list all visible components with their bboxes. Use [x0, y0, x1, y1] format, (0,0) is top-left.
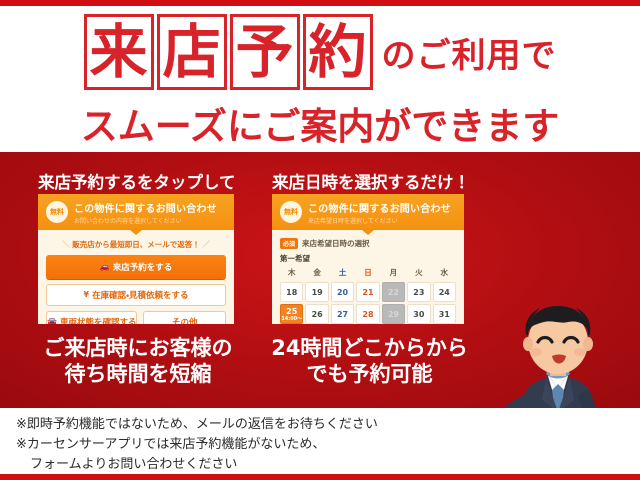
- mockup-header-text: この物件に関するお問い合わせ お問い合わせの内容を選択してください: [74, 200, 217, 225]
- promo-slash-left: ＼: [62, 240, 70, 249]
- other-inquiry-button[interactable]: その他: [143, 311, 226, 324]
- mockup-header-subtitle: お問い合わせの内容を選択してください: [74, 216, 217, 225]
- required-badge: 必須: [280, 238, 298, 249]
- red-content-area: 来店予約するをタップして 来店日時を選択するだけ！ 無料 この物件に関するお問い…: [0, 152, 640, 408]
- calendar-body: 必須 来店希望日時の選択 第一希望 木金土日月火水 18192021222324…: [272, 230, 464, 324]
- inquiry-form-mockup: 無料 この物件に関するお問い合わせ お問い合わせの内容を選択してください ＼ 販…: [38, 194, 234, 324]
- calendar-day-time: 14:00〜: [281, 315, 302, 322]
- calendar-header-text: この物件に関するお問い合わせ 来店希望日時を選択してください: [308, 200, 451, 225]
- calendar-day-number: 31: [439, 310, 450, 319]
- right-panel-title: 来店日時を選択するだけ！: [272, 169, 470, 193]
- calendar-day-28[interactable]: 28: [356, 304, 379, 324]
- calendar-day-number: 19: [312, 288, 323, 297]
- calendar-day-29: 29: [382, 304, 405, 324]
- calendar-weekday-土: 土: [331, 267, 354, 280]
- calendar-weekday-金: 金: [305, 267, 328, 280]
- reserve-visit-button[interactable]: 🚗 来店予約をする: [46, 255, 226, 279]
- headline-row-2: スムーズにご案内ができます: [0, 96, 640, 150]
- secondary-button-row: 🚘 車両状態を確認する その他: [46, 311, 226, 324]
- left-benefit-line-2: 待ち時間を短縮: [18, 362, 258, 388]
- calendar-weekday-木: 木: [280, 267, 303, 280]
- calendar-day-19[interactable]: 19: [305, 282, 328, 302]
- calendar-header-title: この物件に関するお問い合わせ: [308, 200, 451, 215]
- promo-banner: 来 店 予 約 のご利用で スムーズにご案内ができます 来店予約するをタップして…: [0, 0, 640, 480]
- left-benefit-line-1: ご来店時にお客様の: [18, 336, 258, 362]
- calendar-day-23[interactable]: 23: [407, 282, 430, 302]
- headline-tail: のご利用で: [382, 28, 557, 77]
- promo-line-text: 販売店から最短即日、メールで返答！: [72, 240, 200, 249]
- calendar-weekday-row: 木金土日月火水: [280, 267, 456, 280]
- calendar-day-number: 18: [286, 288, 297, 297]
- boxed-kanji-2: 店: [157, 14, 227, 90]
- boxed-kanji-4: 約: [303, 14, 373, 90]
- footer-area: ※即時予約機能ではないため、メールの返信をお待ちください ※カーセンサーアプリで…: [0, 408, 640, 474]
- calendar-required-row: 必須 来店希望日時の選択: [280, 238, 456, 249]
- calendar-weekday-水: 水: [433, 267, 456, 280]
- calendar-weekday-日: 日: [356, 267, 379, 280]
- calendar-mockup: 無料 この物件に関するお問い合わせ 来店希望日時を選択してください 必須 来店希…: [272, 194, 464, 324]
- calendar-day-26[interactable]: 26: [305, 304, 328, 324]
- mockup-header-bar: 無料 この物件に関するお問い合わせ お問い合わせの内容を選択してください: [38, 194, 234, 230]
- footer-note-2: ※カーセンサーアプリでは来店予約機能がないため、: [16, 435, 378, 455]
- bottom-accent-rule: [0, 474, 640, 480]
- boxed-kanji-group: 来 店 予 約: [84, 14, 373, 90]
- footer-notes: ※即時予約機能ではないため、メールの返信をお待ちください ※カーセンサーアプリで…: [16, 415, 378, 474]
- calendar-day-number: 22: [388, 288, 399, 297]
- calendar-day-number: 29: [388, 310, 399, 319]
- boxed-kanji-3: 予: [230, 14, 300, 90]
- calendar-weekday-火: 火: [407, 267, 430, 280]
- calendar-day-27[interactable]: 27: [331, 304, 354, 324]
- mockup-header-title: この物件に関するお問い合わせ: [74, 200, 217, 215]
- calendar-day-21[interactable]: 21: [356, 282, 379, 302]
- calendar-day-number: 20: [337, 288, 348, 297]
- preference-label: 第一希望: [280, 253, 456, 264]
- calendar-day-number: 26: [312, 310, 323, 319]
- calendar-day-25[interactable]: 2514:00〜: [280, 304, 303, 324]
- vehicle-condition-button[interactable]: 🚘 車両状態を確認する: [46, 311, 137, 324]
- calendar-section-label: 来店希望日時の選択: [302, 238, 370, 249]
- calendar-day-grid: 181920212223242514:00〜262728293031: [280, 282, 456, 324]
- right-benefit-line-2: でも予約可能: [262, 362, 477, 388]
- calendar-day-22: 22: [382, 282, 405, 302]
- calendar-day-number: 27: [337, 310, 348, 319]
- headline-row-1: 来 店 予 約 のご利用で: [0, 10, 640, 94]
- yen-icon: ¥: [84, 291, 90, 299]
- car-icon: 🚗: [100, 263, 110, 271]
- left-panel-title: 来店予約するをタップして: [38, 169, 236, 193]
- calendar-day-number: 28: [362, 310, 373, 319]
- calendar-day-31[interactable]: 31: [433, 304, 456, 324]
- car-side-icon: 🚘: [47, 318, 57, 324]
- headline-zone: 来 店 予 約 のご利用で スムーズにご案内ができます: [0, 6, 640, 152]
- footer-note-1: ※即時予約機能ではないため、メールの返信をお待ちください: [16, 415, 378, 435]
- footer-note-3: フォームよりお問い合わせください: [16, 455, 378, 475]
- calendar-header-subtitle: 来店希望日時を選択してください: [308, 216, 451, 225]
- calendar-day-number: 21: [362, 288, 373, 297]
- calendar-day-30[interactable]: 30: [407, 304, 430, 324]
- calendar-day-number: 24: [439, 288, 450, 297]
- reserve-visit-label: 来店予約をする: [113, 261, 173, 273]
- right-benefit-caption: 24時間どこからから でも予約可能: [262, 336, 477, 387]
- right-benefit-line-1: 24時間どこからから: [262, 336, 477, 362]
- calendar-day-20[interactable]: 20: [331, 282, 354, 302]
- promo-line: ＼ 販売店から最短即日、メールで返答！ ／: [46, 239, 226, 250]
- boxed-kanji-1: 来: [84, 14, 154, 90]
- stock-quote-button[interactable]: ¥ 在庫確認・見積依頼をする: [46, 284, 226, 306]
- calendar-day-number: 30: [413, 310, 424, 319]
- calendar-header-bar: 無料 この物件に関するお問い合わせ 来店希望日時を選択してください: [272, 194, 464, 230]
- promo-slash-right: ／: [202, 240, 210, 249]
- mockup-body: ＼ 販売店から最短即日、メールで返答！ ／ 🚗 来店予約をする ¥ 在庫確認・見…: [38, 230, 234, 324]
- calendar-weekday-月: 月: [382, 267, 405, 280]
- calendar-day-18[interactable]: 18: [280, 282, 303, 302]
- left-benefit-caption: ご来店時にお客様の 待ち時間を短縮: [18, 336, 258, 387]
- other-inquiry-label: その他: [172, 316, 198, 324]
- vehicle-condition-label: 車両状態を確認する: [60, 316, 137, 324]
- stock-quote-label: 在庫確認・見積依頼をする: [92, 289, 188, 301]
- calendar-day-24[interactable]: 24: [433, 282, 456, 302]
- free-badge: 無料: [46, 201, 68, 223]
- free-badge: 無料: [280, 201, 302, 223]
- calendar-day-number: 23: [413, 288, 424, 297]
